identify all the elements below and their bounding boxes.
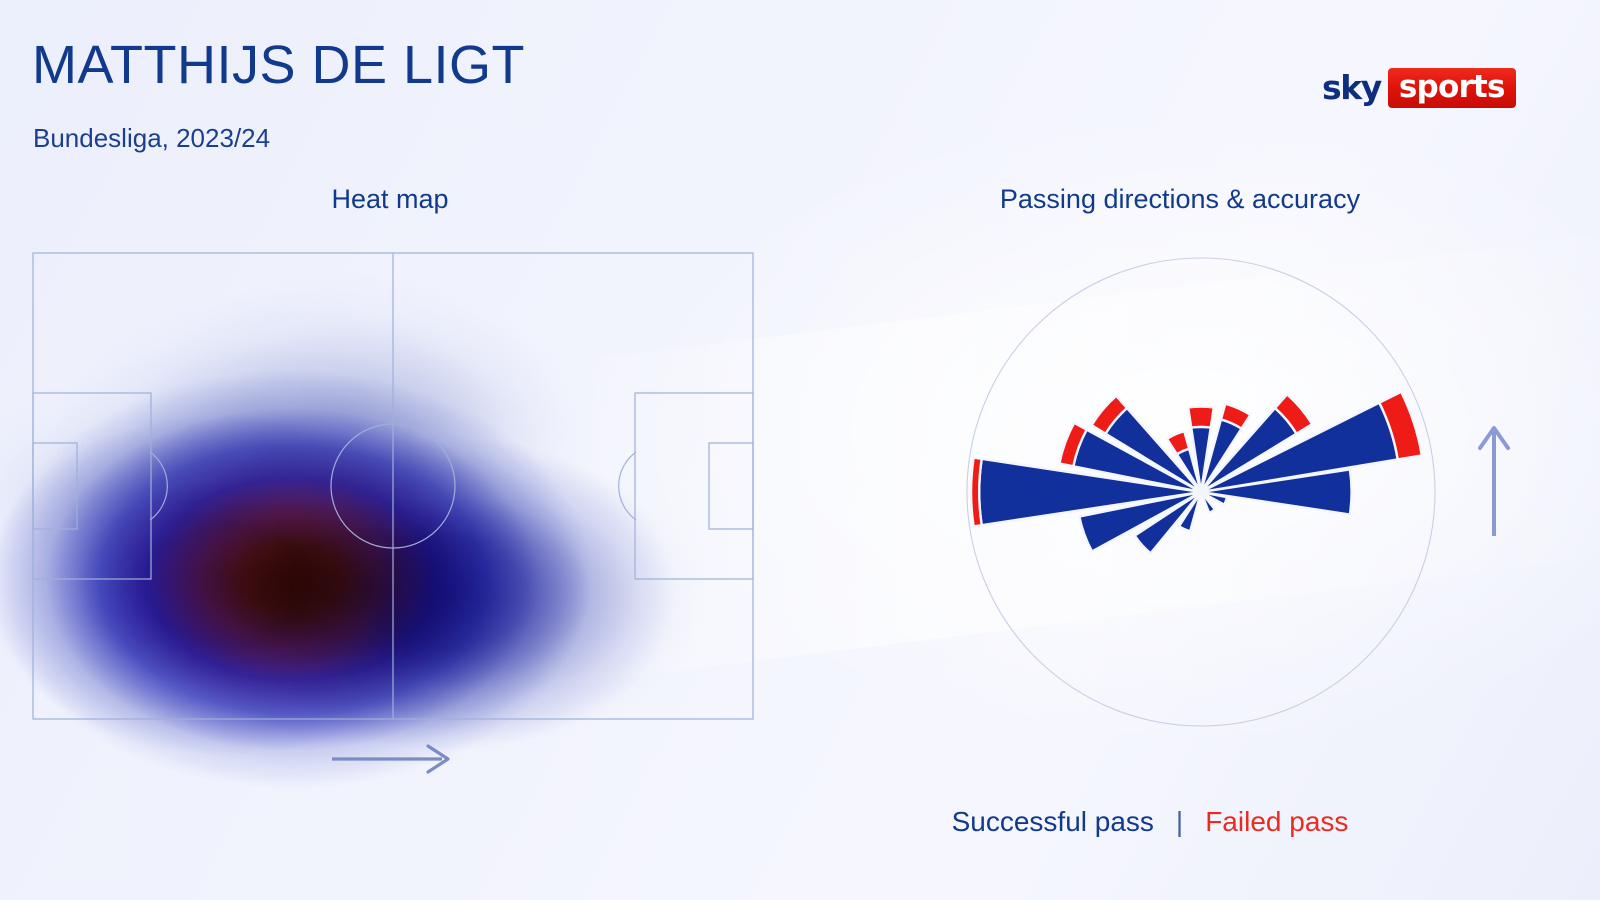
competition-subtitle: Bundesliga, 2023/24	[33, 123, 270, 154]
legend-separator: |	[1176, 806, 1183, 838]
heatmap-pitch	[32, 252, 754, 720]
rose-wedge-failed	[971, 458, 982, 527]
arrow-right-icon	[330, 742, 460, 776]
pass-legend: Successful pass | Failed pass	[810, 806, 1490, 838]
passing-rose-svg	[930, 240, 1450, 760]
arrow-up-icon	[1472, 420, 1516, 538]
sports-wordmark: sports	[1388, 68, 1516, 108]
passing-rose-chart	[930, 240, 1450, 760]
page-title: MATTHIJS DE LIGT	[32, 36, 525, 94]
sky-sports-logo: sky sports	[1322, 66, 1516, 110]
infographic-root: MATTHIJS DE LIGT Bundesliga, 2023/24 sky…	[0, 0, 1600, 900]
legend-failed-pass: Failed pass	[1205, 806, 1348, 838]
passing-heading: Passing directions & accuracy	[930, 184, 1430, 215]
sky-wordmark: sky	[1322, 70, 1388, 106]
rose-wedge-failed	[1188, 407, 1214, 428]
rose-wedge-failed	[1167, 431, 1189, 454]
legend-successful-pass: Successful pass	[952, 806, 1154, 838]
heatmap-heading: Heat map	[190, 184, 590, 215]
pitch-markings	[32, 252, 754, 720]
